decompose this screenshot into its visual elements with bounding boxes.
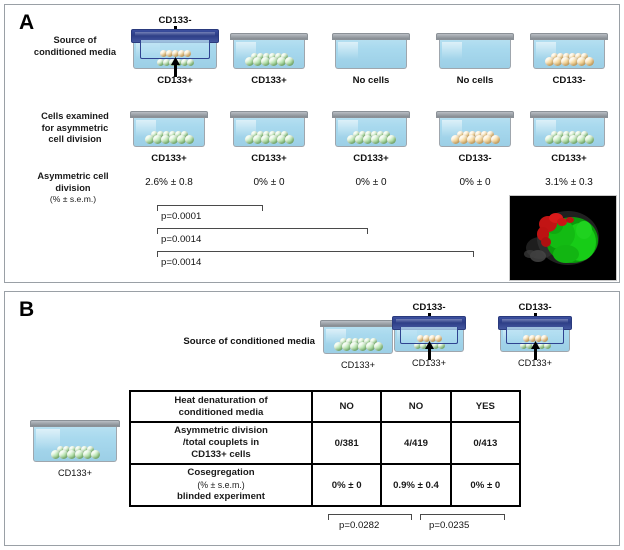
dish-examined-col3-green	[335, 111, 407, 147]
dish-examined-col2-green	[233, 111, 305, 147]
row-label-source-line2: conditioned media	[23, 47, 127, 59]
table-cell-coseg-col3: 0% ± 0	[452, 465, 519, 505]
col1-arrow-up-icon	[171, 57, 180, 77]
dish-b-source-col3-caption: CD133+	[495, 358, 575, 368]
panel-a: A Source of conditioned media Cells exam…	[4, 4, 620, 283]
col5-examined-caption: CD133+	[523, 153, 615, 164]
row-label-asym-line1: Asymmetric cell	[19, 171, 127, 183]
table-row-header-asymmetric: Asymmetric division /total couplets in C…	[131, 423, 313, 463]
figure-root: A Source of conditioned media Cells exam…	[0, 0, 624, 550]
table-row-header-heat: Heat denaturation of conditioned media	[131, 392, 313, 421]
confocal-micrograph-image	[509, 195, 617, 281]
row-label-cells-examined: Cells examined for asymmetric cell divis…	[23, 111, 127, 146]
table-row: Heat denaturation of conditioned media N…	[131, 392, 519, 423]
row-label-examined-line1: Cells examined	[23, 111, 127, 123]
asym-header-line2: /total couplets in	[174, 437, 268, 449]
b-significance-pvalue-1: p=0.0282	[339, 520, 379, 531]
dish-b-source-col2-caption: CD133+	[389, 358, 469, 368]
significance-bracket-3	[157, 251, 474, 258]
table-cell-coseg-col1: 0% ± 0	[313, 465, 382, 505]
dish-b-source-col1-green	[323, 320, 393, 354]
dish-b-examined-green	[33, 420, 117, 462]
table-row: Cosegregation (% ± s.e.m.) blinded exper…	[131, 465, 519, 505]
col1-examined-caption: CD133+	[123, 153, 215, 164]
dish-b-source-col2-top-label: CD133-	[389, 302, 469, 313]
col2-value: 0% ± 0	[223, 177, 315, 188]
significance-pvalue-3: p=0.0014	[161, 257, 201, 268]
table-row: Asymmetric division /total couplets in C…	[131, 423, 519, 465]
transwell-insert-basket	[140, 40, 211, 59]
dish-examined-col5-green	[533, 111, 605, 147]
table-cell-heat-col2: NO	[382, 392, 451, 421]
col4-value: 0% ± 0	[429, 177, 521, 188]
col3-examined-caption: CD133+	[325, 153, 417, 164]
asym-header-line3: CD133+ cells	[174, 449, 268, 461]
panel-b-source-label: Source of conditioned media	[155, 336, 315, 347]
coseg-header-line2: (% ± s.e.m.)	[177, 479, 265, 491]
panel-b: B Source of conditioned media CD133+ CD1…	[4, 291, 620, 546]
col5-value: 3.1% ± 0.3	[523, 177, 615, 188]
panel-b-table: Heat denaturation of conditioned media N…	[129, 390, 521, 507]
panel-a-letter: A	[19, 11, 34, 35]
table-cell-asym-col2: 4/419	[382, 423, 451, 463]
table-cell-asym-col3: 0/413	[452, 423, 519, 463]
dish-b-source-col3-top-label: CD133-	[495, 302, 575, 313]
table-cell-asym-col1: 0/381	[313, 423, 382, 463]
col4-source-caption: No cells	[429, 75, 521, 86]
row-label-examined-line3: cell division	[23, 134, 127, 146]
panel-b-letter: B	[19, 298, 34, 322]
dish-examined-col1-green	[133, 111, 205, 147]
col5-source-caption: CD133-	[523, 75, 615, 86]
col1-source-top-label: CD133-	[127, 15, 223, 26]
row-label-examined-line2: for asymmetric	[23, 123, 127, 135]
col3-source-caption: No cells	[325, 75, 417, 86]
coseg-header-line3: blinded experiment	[177, 491, 265, 503]
dish-source-col3-empty	[335, 33, 407, 69]
row-label-source-line1: Source of	[23, 35, 127, 47]
dish-source-col4-empty	[439, 33, 511, 69]
row-label-asym-line3: (% ± s.e.m.)	[19, 194, 127, 206]
asym-header-line1: Asymmetric division	[174, 425, 268, 437]
col2-source-caption: CD133+	[223, 75, 315, 86]
dish-source-col2-green	[233, 33, 305, 69]
dish-source-col5-orange	[533, 33, 605, 69]
heat-header-line2: conditioned media	[174, 407, 267, 419]
b-significance-pvalue-2: p=0.0235	[429, 520, 469, 531]
dish-cells-orange	[538, 53, 600, 66]
col3-value: 0% ± 0	[325, 177, 417, 188]
table-cell-heat-col3: YES	[452, 392, 519, 421]
col4-examined-caption: CD133-	[429, 153, 521, 164]
col1-source-caption: CD133+	[127, 75, 223, 86]
table-cell-coseg-col2: 0.9% ± 0.4	[382, 465, 451, 505]
coseg-header-line1: Cosegregation	[177, 467, 265, 479]
significance-pvalue-2: p=0.0014	[161, 234, 201, 245]
significance-pvalue-1: p=0.0001	[161, 211, 201, 222]
heat-header-line1: Heat denaturation of	[174, 395, 267, 407]
row-label-source: Source of conditioned media	[23, 35, 127, 58]
table-cell-heat-col1: NO	[313, 392, 382, 421]
dish-examined-col4-orange	[439, 111, 511, 147]
col1-value: 2.6% ± 0.8	[123, 177, 215, 188]
table-row-header-cosegregation: Cosegregation (% ± s.e.m.) blinded exper…	[131, 465, 313, 505]
row-label-asym-line2: division	[19, 183, 127, 195]
col2-examined-caption: CD133+	[223, 153, 315, 164]
insert-cells-orange	[145, 50, 205, 57]
dish-b-examined-caption: CD133+	[31, 468, 119, 478]
row-label-asymmetric-division: Asymmetric cell division (% ± s.e.m.)	[19, 171, 127, 206]
dish-cells-green	[238, 53, 300, 66]
